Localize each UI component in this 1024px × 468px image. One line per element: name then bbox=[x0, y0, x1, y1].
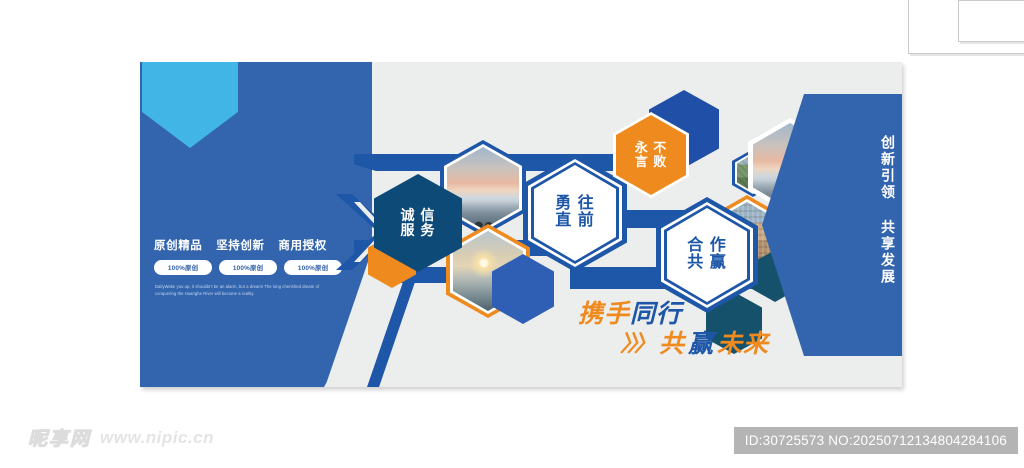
badge-original-1: 100%原创 bbox=[219, 260, 277, 275]
headline-item-2: 商用授权 bbox=[278, 240, 326, 252]
hex-yongbu-yanbai: 永 不 言 败 bbox=[613, 112, 689, 198]
hex-label-yongwang-zhiqian: 勇 往 直 前 bbox=[555, 196, 594, 230]
headline-item-0: 原创精品 bbox=[154, 240, 202, 252]
canvas-sheet-front bbox=[958, 0, 1024, 42]
hex-label-hezuo-gongying: 合 作 共 赢 bbox=[687, 238, 726, 272]
main-slogan: 携手同行 〉〉〉共赢未来 bbox=[564, 294, 844, 370]
watermark-logo: 昵享网 bbox=[28, 424, 91, 451]
image-id-bar: ID:30725573 NO:20250712134804284106 bbox=[734, 427, 1018, 454]
left-panel-headline: 原创精品 坚持创新 商用授权 bbox=[154, 237, 364, 253]
site-watermark: 昵享网 www.nipic.cn bbox=[28, 424, 214, 451]
slogan-weilai: 未来 bbox=[717, 324, 769, 360]
hex-label-yongbu-yanbai: 永 不 言 败 bbox=[635, 141, 668, 168]
slogan-line-2: 〉〉〉共赢未来 bbox=[620, 324, 769, 360]
slogan-gong: 共 bbox=[659, 324, 685, 360]
watermark-url: www.nipic.cn bbox=[100, 428, 214, 448]
badge-original-0: 100%原创 bbox=[154, 260, 212, 275]
hex-yongwang-zhiqian: 勇 往 直 前 bbox=[523, 154, 627, 272]
headline-item-1: 坚持创新 bbox=[216, 240, 264, 252]
right-vertical-slogan: 创新引领 共享发展 bbox=[840, 110, 896, 310]
screenshot-stage: 原创精品 坚持创新 商用授权 100%原创 100%原创 100%原创 Dail… bbox=[0, 0, 1024, 468]
chevron-arrows-icon: 〉〉〉 bbox=[620, 326, 652, 358]
slogan-ying: 赢 bbox=[688, 324, 714, 360]
badge-original-2: 100%原创 bbox=[284, 260, 342, 275]
culture-wall-artwork: 原创精品 坚持创新 商用授权 100%原创 100%原创 100%原创 Dail… bbox=[140, 62, 902, 387]
hex-label-chengxin-fuwu: 诚 信 服 务 bbox=[401, 208, 436, 237]
left-panel-subtext: DailyWake you up, it shouldn't be an ala… bbox=[155, 284, 335, 298]
